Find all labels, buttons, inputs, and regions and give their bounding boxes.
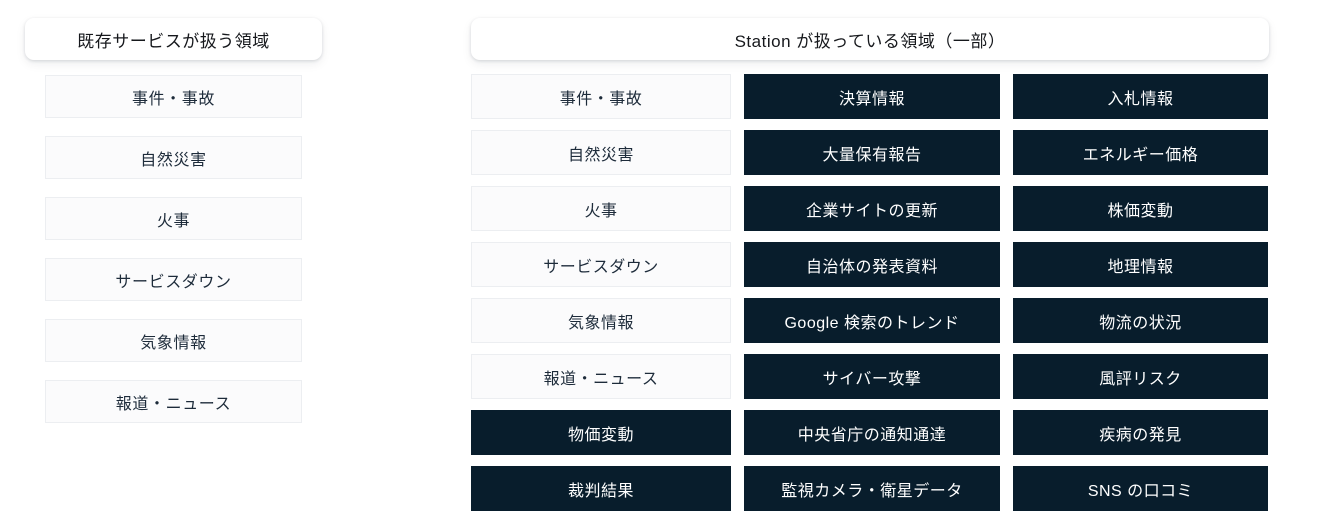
station-coverage-cell: 事件・事故 — [471, 74, 731, 119]
station-coverage-cell-label: SNS の口コミ — [1088, 477, 1193, 501]
station-coverage-panel: Station が扱っている領域（一部） 事件・事故自然災害火事サービスダウン気… — [471, 0, 1269, 527]
station-coverage-cell-highlighted: 決算情報 — [744, 74, 1000, 119]
station-coverage-cell-highlighted: SNS の口コミ — [1013, 466, 1268, 511]
station-coverage-cell-highlighted: 大量保有報告 — [744, 130, 1000, 175]
existing-services-header-card: 既存サービスが扱う領域 — [25, 18, 322, 60]
station-coverage-cell-label: 入札情報 — [1107, 85, 1173, 109]
station-coverage-cell-highlighted: サイバー攻撃 — [744, 354, 1000, 399]
station-coverage-cell-highlighted: 風評リスク — [1013, 354, 1268, 399]
existing-services-panel: 既存サービスが扱う領域 事件・事故自然災害火事サービスダウン気象情報報道・ニュー… — [0, 0, 347, 527]
station-coverage-cell-highlighted: 株価変動 — [1013, 186, 1268, 231]
station-coverage-column: 入札情報エネルギー価格株価変動地理情報物流の状況風評リスク疾病の発見SNS の口… — [1013, 74, 1268, 511]
station-coverage-cell-label: 報道・ニュース — [544, 365, 659, 389]
station-coverage-cell-label: Google 検索のトレンド — [784, 309, 959, 333]
station-coverage-cell-label: 気象情報 — [568, 309, 634, 333]
station-coverage-cell-highlighted: 裁判結果 — [471, 466, 731, 511]
station-coverage-column: 事件・事故自然災害火事サービスダウン気象情報報道・ニュース物価変動裁判結果 — [471, 74, 731, 511]
station-coverage-cell: 自然災害 — [471, 130, 731, 175]
station-coverage-cell-label: 株価変動 — [1107, 197, 1173, 221]
station-coverage-cell-label: 裁判結果 — [568, 477, 634, 501]
station-coverage-cell-highlighted: 物流の状況 — [1013, 298, 1268, 343]
existing-service-item: 気象情報 — [45, 319, 302, 362]
station-coverage-column: 決算情報大量保有報告企業サイトの更新自治体の発表資料Google 検索のトレンド… — [744, 74, 1000, 511]
station-coverage-cell-label: 自然災害 — [568, 141, 634, 165]
station-coverage-cell-label: 決算情報 — [839, 85, 905, 109]
existing-service-item: サービスダウン — [45, 258, 302, 301]
existing-services-list: 事件・事故自然災害火事サービスダウン気象情報報道・ニュース — [45, 75, 302, 441]
existing-service-item: 報道・ニュース — [45, 380, 302, 423]
existing-services-header-label: 既存サービスが扱う領域 — [77, 27, 270, 52]
station-coverage-cell-highlighted: 企業サイトの更新 — [744, 186, 1000, 231]
station-coverage-cell-highlighted: 物価変動 — [471, 410, 731, 455]
station-coverage-cell-label: 火事 — [584, 197, 617, 221]
station-coverage-cell-label: 物価変動 — [568, 421, 634, 445]
station-coverage-cell-label: 事件・事故 — [560, 85, 643, 109]
station-coverage-grid: 事件・事故自然災害火事サービスダウン気象情報報道・ニュース物価変動裁判結果決算情… — [471, 74, 1269, 511]
existing-service-item-label: 自然災害 — [140, 146, 206, 170]
existing-service-item: 自然災害 — [45, 136, 302, 179]
station-coverage-cell-label: 中央省庁の通知通達 — [798, 421, 947, 445]
station-coverage-cell-highlighted: 監視カメラ・衛星データ — [744, 466, 1000, 511]
station-coverage-header-label: Station が扱っている領域（一部） — [735, 27, 1006, 52]
existing-service-item: 火事 — [45, 197, 302, 240]
station-coverage-cell-highlighted: 自治体の発表資料 — [744, 242, 1000, 287]
existing-service-item-label: 気象情報 — [140, 329, 206, 353]
existing-service-item-label: 事件・事故 — [132, 85, 215, 109]
station-coverage-cell-label: サービスダウン — [543, 253, 659, 277]
station-coverage-cell-label: 疾病の発見 — [1099, 421, 1182, 445]
station-coverage-cell-highlighted: Google 検索のトレンド — [744, 298, 1000, 343]
station-coverage-cell-label: 物流の状況 — [1099, 309, 1182, 333]
station-coverage-cell-label: 地理情報 — [1107, 253, 1173, 277]
station-coverage-cell-highlighted: 入札情報 — [1013, 74, 1268, 119]
station-coverage-cell-label: サイバー攻撃 — [823, 365, 922, 389]
station-coverage-cell-label: 風評リスク — [1099, 365, 1182, 389]
station-coverage-cell-highlighted: エネルギー価格 — [1013, 130, 1268, 175]
station-coverage-cell-label: 大量保有報告 — [822, 141, 921, 165]
station-coverage-cell: 火事 — [471, 186, 731, 231]
station-coverage-cell-highlighted: 中央省庁の通知通達 — [744, 410, 1000, 455]
existing-service-item-label: サービスダウン — [115, 268, 231, 292]
station-coverage-cell: サービスダウン — [471, 242, 731, 287]
station-coverage-cell: 報道・ニュース — [471, 354, 731, 399]
existing-service-item-label: 報道・ニュース — [116, 390, 231, 414]
station-coverage-cell: 気象情報 — [471, 298, 731, 343]
station-coverage-cell-label: 企業サイトの更新 — [806, 197, 938, 221]
existing-service-item: 事件・事故 — [45, 75, 302, 118]
existing-service-item-label: 火事 — [157, 207, 190, 231]
station-coverage-cell-label: エネルギー価格 — [1083, 141, 1199, 165]
station-coverage-cell-highlighted: 疾病の発見 — [1013, 410, 1268, 455]
station-coverage-cell-label: 自治体の発表資料 — [806, 253, 938, 277]
station-coverage-cell-highlighted: 地理情報 — [1013, 242, 1268, 287]
station-coverage-header-card: Station が扱っている領域（一部） — [471, 18, 1269, 60]
station-coverage-cell-label: 監視カメラ・衛星データ — [781, 477, 963, 501]
